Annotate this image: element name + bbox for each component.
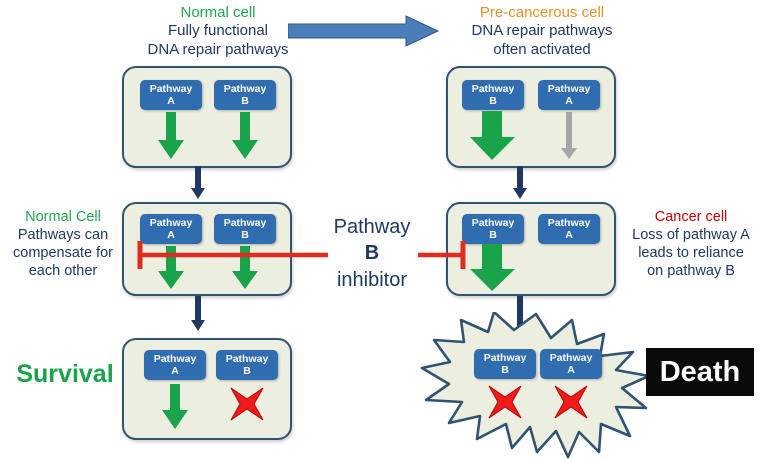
- pathway-box-id: A: [565, 229, 573, 241]
- header-precancerous-cell-line2: often activated: [432, 41, 652, 59]
- cancer-cell-middle: Pathway B Pathway A: [446, 202, 616, 296]
- header-precancerous-cell: Pre-cancerous cell DNA repair pathways o…: [432, 4, 652, 59]
- header-precancerous-cell-line1: DNA repair pathways: [432, 22, 652, 40]
- inhibitor-label-line1: Pathway: [320, 214, 424, 240]
- pathway-box-b: Pathway B: [214, 80, 276, 110]
- annotation-cancer-cell-right: Cancer cell Loss of pathway A leads to r…: [622, 208, 760, 281]
- pathway-box-label: Pathway: [548, 217, 591, 229]
- gray-arrow-thin-icon: [560, 112, 578, 160]
- inhibitor-line-left-icon: [134, 238, 330, 272]
- flow-arrow-down-right-icon: [512, 166, 528, 200]
- pathway-box-a: Pathway A: [540, 349, 602, 379]
- pathway-box-b: Pathway B: [462, 214, 524, 244]
- precancerous-cell-top: Pathway B Pathway A: [446, 66, 616, 168]
- annotation-right-line1: Loss of pathway A: [622, 226, 760, 244]
- green-arrow-medium-icon: [231, 112, 259, 160]
- pathway-box-id: B: [489, 229, 497, 241]
- annotation-left-heading: Normal Cell: [4, 208, 122, 226]
- annotation-left-line2: compensate for: [4, 244, 122, 262]
- outcome-death-label: Death: [646, 348, 754, 396]
- red-x-icon: [227, 386, 267, 422]
- pathway-box-a: Pathway A: [144, 350, 206, 380]
- annotation-left-line3: each other: [4, 262, 122, 280]
- flow-arrow-down-left-icon: [190, 166, 206, 200]
- normal-cell-top: Pathway A Pathway B: [122, 66, 292, 168]
- progression-arrow-icon: [288, 14, 440, 48]
- pathway-box-label: Pathway: [224, 83, 267, 95]
- pathway-box-id: B: [489, 95, 497, 107]
- red-x-icon: [485, 384, 525, 420]
- pathway-box-label: Pathway: [226, 353, 269, 365]
- burst-pathway-box-a: Pathway A: [540, 349, 602, 379]
- pathway-box-label: Pathway: [484, 352, 527, 364]
- cancer-cell-bottom-burst: [420, 312, 650, 459]
- annotation-right-heading: Cancer cell: [622, 208, 760, 226]
- pathway-box-id: A: [167, 95, 175, 107]
- header-precancerous-cell-type: Pre-cancerous cell: [432, 4, 652, 22]
- pathway-box-id: B: [501, 364, 509, 376]
- inhibitor-line-right-icon: [418, 238, 468, 272]
- green-arrow-medium-icon: [157, 112, 185, 160]
- annotation-normal-cell-left: Normal Cell Pathways can compensate for …: [4, 208, 122, 281]
- annotation-right-line3: on pathway B: [622, 262, 760, 280]
- burst-pathway-box-b: Pathway B: [474, 349, 536, 379]
- pathway-box-label: Pathway: [150, 217, 193, 229]
- pathway-box-label: Pathway: [150, 83, 193, 95]
- pathway-box-label: Pathway: [154, 353, 197, 365]
- pathway-box-id: A: [565, 95, 573, 107]
- pathway-box-a: Pathway A: [140, 80, 202, 110]
- pathway-box-b: Pathway B: [474, 349, 536, 379]
- red-x-icon: [551, 384, 591, 420]
- pathway-box-id: B: [241, 95, 249, 107]
- pathway-box-id: A: [567, 364, 575, 376]
- pathway-box-a: Pathway A: [538, 214, 600, 244]
- pathway-box-b: Pathway B: [216, 350, 278, 380]
- inhibitor-label-line2: B: [365, 242, 379, 264]
- annotation-right-line2: leads to reliance: [622, 244, 760, 262]
- green-arrow-thick-icon: [469, 244, 517, 292]
- pathway-box-label: Pathway: [550, 352, 593, 364]
- green-arrow-thick-icon: [469, 111, 517, 161]
- pathway-box-b: Pathway B: [462, 80, 524, 110]
- pathway-box-label: Pathway: [224, 217, 267, 229]
- outcome-survival-label: Survival: [10, 360, 120, 389]
- pathway-b-inhibitor-label: Pathway B inhibitor: [320, 214, 424, 293]
- annotation-left-line1: Pathways can: [4, 226, 122, 244]
- pathway-box-id: B: [243, 365, 251, 377]
- pathway-box-a: Pathway A: [538, 80, 600, 110]
- pathway-box-id: A: [171, 365, 179, 377]
- normal-cell-bottom: Pathway A Pathway B: [122, 338, 292, 440]
- green-arrow-medium-icon: [161, 384, 189, 430]
- pathway-box-label: Pathway: [548, 83, 591, 95]
- inhibitor-label-line3: inhibitor: [320, 267, 424, 293]
- flow-arrow-down-left-icon: [190, 296, 206, 332]
- pathway-box-label: Pathway: [472, 83, 515, 95]
- pathway-box-label: Pathway: [472, 217, 515, 229]
